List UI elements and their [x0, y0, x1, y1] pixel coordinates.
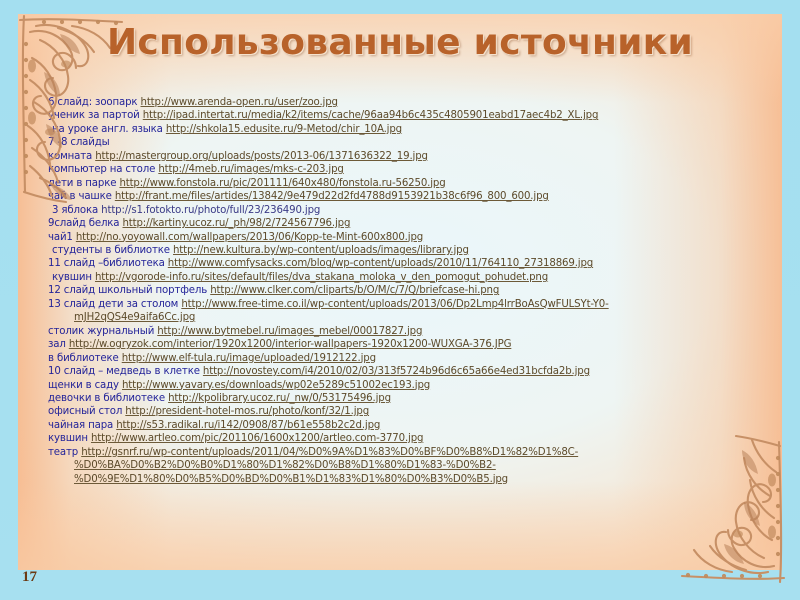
source-label: дети в парке: [48, 178, 119, 189]
source-entry: компьютер на столе http://4meb.ru/images…: [48, 163, 788, 176]
source-link[interactable]: http://kartiny.ucoz.ru/_ph/98/2/72456779…: [123, 218, 351, 229]
source-entry: 9слайд белка http://kartiny.ucoz.ru/_ph/…: [48, 217, 788, 230]
source-label: комната: [48, 151, 95, 162]
source-entry: столик журнальный http://www.bytmebel.ru…: [48, 325, 788, 338]
source-label: кувшин: [52, 272, 95, 283]
source-link[interactable]: http://www.elf-tula.ru/image/uploaded/19…: [122, 353, 376, 364]
source-link[interactable]: http://kpolibrary.ucoz.ru/_nw/0/53175496…: [168, 393, 391, 404]
source-link[interactable]: http://www.bytmebel.ru/images_mebel/0001…: [157, 326, 422, 337]
source-entry: 13 слайд дети за столом http://www.free-…: [48, 298, 788, 311]
source-link[interactable]: http://www.comfysacks.com/blog/wp-conten…: [168, 258, 593, 269]
source-label: 13 слайд дети за столом: [48, 299, 181, 310]
source-entry: щенки в саду http://www.yavary.es/downlo…: [48, 379, 788, 392]
presentation-slide: Использованные источники 6 слайд: зоопар…: [0, 0, 800, 600]
source-link[interactable]: http://vgorode-info.ru/sites/default/fil…: [95, 272, 548, 283]
source-link[interactable]: mJH2qQS4e9aifa6Cc.jpg: [74, 312, 195, 323]
source-entry: 7 -8 слайды: [48, 136, 788, 149]
source-entry: кувшин http://www.artleo.com/pic/201106/…: [48, 432, 788, 445]
page-number: 17: [22, 569, 37, 586]
source-label: девочки в библиотеке: [48, 393, 168, 404]
source-entry: %D0%BA%D0%B2%D0%B0%D1%80%D1%82%D0%B8%D1%…: [48, 459, 788, 472]
source-link[interactable]: http://www.arenda-open.ru/user/zoo.jpg: [141, 97, 338, 108]
page-title: Использованные источники: [0, 22, 800, 63]
source-entry: комната http://mastergroup.org/uploads/p…: [48, 150, 788, 163]
source-entry: дети в парке http://www.fonstola.ru/pic/…: [48, 177, 788, 190]
source-label: на уроке англ. языка: [52, 124, 166, 135]
source-label: 9слайд белка: [48, 218, 123, 229]
source-label: 3 яблока: [52, 205, 101, 216]
source-label: 7 -8 слайды: [48, 137, 110, 148]
source-link[interactable]: http://www.fonstola.ru/pic/201111/640x48…: [119, 178, 445, 189]
source-link[interactable]: http://www.clker.com/cliparts/b/O/M/c/7/…: [210, 285, 499, 296]
source-link[interactable]: http://novostey.com/i4/2010/02/03/313f57…: [203, 366, 590, 377]
source-label: компьютер на столе: [48, 164, 158, 175]
source-link[interactable]: http://new.kultura.by/wp-content/uploads…: [173, 245, 469, 256]
source-label: офисный стол: [48, 406, 125, 417]
source-label: театр: [48, 447, 81, 458]
source-label: чайная пара: [48, 420, 116, 431]
source-label: зал: [48, 339, 69, 350]
source-entry: студенты в библиотке http://new.kultura.…: [48, 244, 788, 257]
source-link[interactable]: http://ipad.intertat.ru/media/k2/items/c…: [143, 110, 599, 121]
source-label: 6 слайд: зоопарк: [48, 97, 141, 108]
source-entry: %D0%9E%D1%80%D0%B5%D0%BD%D0%B1%D1%83%D1%…: [48, 473, 788, 486]
source-entry: девочки в библиотеке http://kpolibrary.u…: [48, 392, 788, 405]
source-label: 11 слайд –библиотека: [48, 258, 168, 269]
source-entry: офисный стол http://president-hotel-mos.…: [48, 405, 788, 418]
source-link[interactable]: http://president-hotel-mos.ru/photo/konf…: [125, 406, 369, 417]
source-entry: кувшин http://vgorode-info.ru/sites/defa…: [48, 271, 788, 284]
source-entry: ученик за партой http://ipad.intertat.ru…: [48, 109, 788, 122]
source-link[interactable]: http://4meb.ru/images/mks-c-203.jpg: [158, 164, 343, 175]
source-label: чай в чашке: [48, 191, 115, 202]
source-entry: 3 яблока http://s1.fotokto.ru/photo/full…: [48, 204, 788, 217]
source-link[interactable]: http://s53.radikal.ru/i142/0908/87/b61e5…: [116, 420, 380, 431]
source-entry: 6 слайд: зоопарк http://www.arenda-open.…: [48, 96, 788, 109]
source-label: 10 слайд – медведь в клетке: [48, 366, 203, 377]
source-link[interactable]: http://no.yoyowall.com/wallpapers/2013/0…: [76, 232, 423, 243]
sources-list: 6 слайд: зоопарк http://www.arenda-open.…: [48, 96, 788, 486]
source-label: столик журнальный: [48, 326, 157, 337]
source-link[interactable]: http://www.yavary.es/downloads/wp02e5289…: [122, 380, 430, 391]
source-entry: mJH2qQS4e9aifa6Cc.jpg: [48, 311, 788, 324]
source-label: чай1: [48, 232, 76, 243]
source-label: в библиотеке: [48, 353, 122, 364]
source-entry: театр http://gsnrf.ru/wp-content/uploads…: [48, 446, 788, 459]
source-link[interactable]: http://www.free-time.co.il/wp-content/up…: [181, 299, 608, 310]
source-label: щенки в саду: [48, 380, 122, 391]
source-label: студенты в библиотке: [52, 245, 173, 256]
source-entry: 12 слайд школьный портфель http://www.cl…: [48, 284, 788, 297]
source-entry: 10 слайд – медведь в клетке http://novos…: [48, 365, 788, 378]
source-entry: на уроке англ. языка http://shkola15.edu…: [48, 123, 788, 136]
source-link[interactable]: %D0%BA%D0%B2%D0%B0%D1%80%D1%82%D0%B8%D1%…: [74, 460, 496, 471]
source-entry: зал http://w.ogryzok.com/interior/1920x1…: [48, 338, 788, 351]
source-link[interactable]: http://gsnrf.ru/wp-content/uploads/2011/…: [81, 447, 578, 458]
source-entry: чай1 http://no.yoyowall.com/wallpapers/2…: [48, 231, 788, 244]
source-link[interactable]: http://w.ogryzok.com/interior/1920x1200/…: [69, 339, 512, 350]
source-label: кувшин: [48, 433, 91, 444]
source-entry: чай в чашке http://frant.me/files/artide…: [48, 190, 788, 203]
source-link[interactable]: http://frant.me/files/artides/13842/9e47…: [115, 191, 549, 202]
source-link[interactable]: http://s1.fotokto.ru/photo/full/23/23649…: [101, 205, 320, 216]
source-link[interactable]: %D0%9E%D1%80%D0%B5%D0%BD%D0%B1%D1%83%D1%…: [74, 474, 508, 485]
source-entry: в библиотеке http://www.elf-tula.ru/imag…: [48, 352, 788, 365]
source-entry: 11 слайд –библиотека http://www.comfysac…: [48, 257, 788, 270]
source-link[interactable]: http://www.artleo.com/pic/201106/1600x12…: [91, 433, 423, 444]
source-label: ученик за партой: [48, 110, 143, 121]
source-link[interactable]: http://shkola15.edusite.ru/9-Metod/chir_…: [166, 124, 402, 135]
source-label: 12 слайд школьный портфель: [48, 285, 210, 296]
source-entry: чайная пара http://s53.radikal.ru/i142/0…: [48, 419, 788, 432]
source-link[interactable]: http://mastergroup.org/uploads/posts/201…: [95, 151, 428, 162]
